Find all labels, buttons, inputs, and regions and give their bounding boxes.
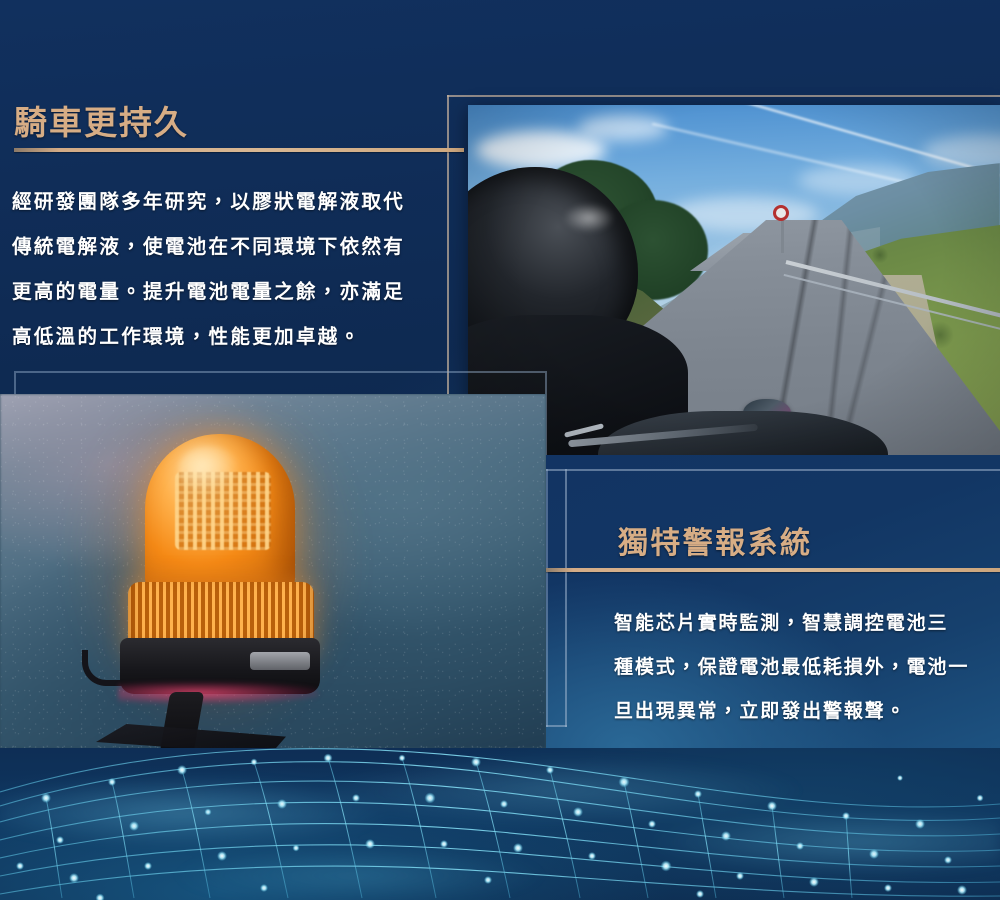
beacon-magenta-reflection	[118, 682, 318, 704]
left-body-line-3: 更高的電量。提升電池電量之餘，亦滿足	[12, 270, 452, 315]
motorcycle-photo	[468, 105, 1000, 455]
alarm-panel-underline	[546, 568, 1000, 572]
beacon-dome-highlight	[178, 446, 240, 494]
helmet-highlight	[563, 203, 615, 233]
mesh-nodes	[16, 754, 984, 900]
left-body-line-2: 傳統電解液，使電池在不同環境下依然有	[12, 225, 452, 270]
panel-frame-outer-left-line	[546, 469, 548, 727]
right-body-line-2: 種模式，保證電池最低耗損外，電池一	[614, 646, 1000, 690]
panel-frame-inner-left-line	[565, 469, 567, 727]
panel-frame-top-line	[546, 469, 1000, 471]
right-body-line-1: 智能芯片實時監測，智慧調控電池三	[614, 602, 1000, 646]
network-mesh-svg	[0, 748, 1000, 900]
page-title-underline	[14, 148, 464, 152]
photo-frame-top-line	[447, 95, 1000, 97]
cloud-shape	[578, 115, 668, 141]
feature-page: 騎車更持久 經研發團隊多年研究，以膠狀電解液取代 傳統電解液，使電池在不同環境下…	[0, 0, 1000, 900]
panel-frame-bottom-line	[546, 725, 567, 727]
page-title: 騎車更持久	[14, 96, 189, 144]
left-body-line-1: 經研發團隊多年研究，以膠狀電解液取代	[12, 180, 452, 225]
right-body-text: 智能芯片實時監測，智慧調控電池三 種模式，保證電池最低耗損外，電池一 旦出現異常…	[614, 602, 1000, 734]
left-body-text: 經研發團隊多年研究，以膠狀電解液取代 傳統電解液，使電池在不同環境下依然有 更高…	[12, 180, 452, 360]
speed-limit-sign-icon	[773, 205, 789, 221]
network-wave-graphic	[0, 748, 1000, 900]
right-body-line-3: 旦出現異常，立即發出警報聲。	[614, 690, 1000, 734]
left-body-line-4: 高低溫的工作環境，性能更加卓越。	[12, 315, 452, 360]
beacon-base-highlight	[250, 652, 310, 670]
beacon-photo	[0, 394, 546, 748]
alarm-panel-title: 獨特警報系統	[618, 518, 812, 562]
